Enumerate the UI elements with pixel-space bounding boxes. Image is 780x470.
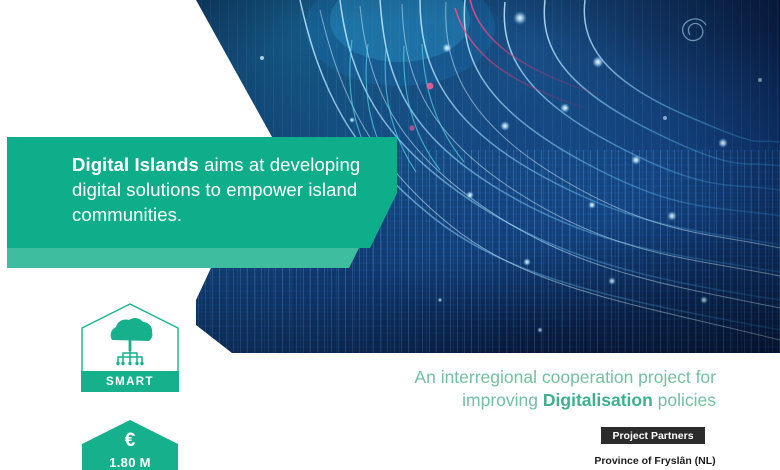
budget-amount: 1.80 M — [78, 455, 182, 470]
smart-tree-circuit-icon — [111, 318, 153, 365]
tagline-line-2-after: policies — [653, 390, 716, 410]
headline-banner-underbar — [7, 248, 359, 268]
headline-strong: Digital Islands — [72, 154, 199, 175]
tagline-line-2-before: improving — [462, 390, 543, 410]
smart-badge-label: SMART — [81, 371, 179, 392]
headline-text: Digital Islands aims at developing digit… — [72, 152, 412, 227]
tagline-line-2-strong: Digitalisation — [543, 390, 653, 410]
poster-canvas: Digital Islands aims at developing digit… — [0, 0, 780, 470]
partner-item: Province of Fryslân (NL) — [560, 455, 750, 467]
project-partners-heading: Project Partners — [601, 427, 705, 444]
tagline-line-1: An interregional cooperation project for — [414, 367, 716, 387]
project-tagline: An interregional cooperation project for… — [338, 366, 716, 412]
euro-symbol-icon: € — [78, 430, 182, 452]
